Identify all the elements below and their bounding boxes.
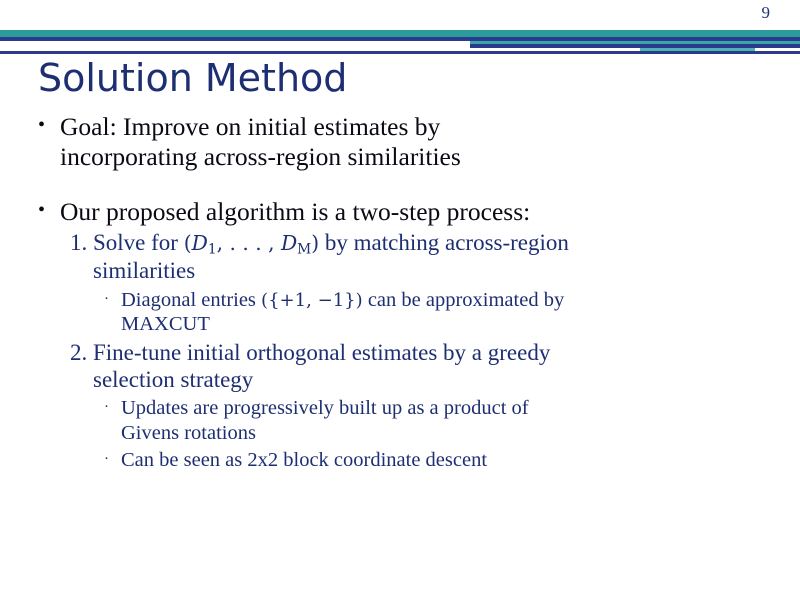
header-decoration [0,0,800,54]
numbered-item-2-line2: selection strategy [93,367,253,392]
sub-bullet-block-descent-text: Can be seen as 2x2 block coordinate desc… [121,448,778,473]
sub-bullet-updates: · Updates are progressively built up as … [104,396,778,445]
bullet-goal: • Goal: Improve on initial estimates by … [38,112,778,171]
numbered-item-1-text: Solve for (D1, . . . , DM) by matching a… [93,229,778,285]
numbered-item-1-text-pre: Solve for [93,230,178,255]
bullet-marker-goal: • [38,112,60,139]
math-dm: D [281,231,297,255]
numbered-item-1-text-post: by matching across-region [325,230,569,255]
bullet-algorithm-text: Our proposed algorithm is a two-step pro… [60,197,778,227]
math-pm-one-set: ({+1, −1}) [261,290,363,311]
math-dots: , . . . , [217,231,275,255]
slide: 9 Solution Method • Goal: Improve on ini… [0,0,800,600]
numbered-item-1-number: 1. [70,229,93,256]
bullet-algorithm: • Our proposed algorithm is a two-step p… [38,197,778,227]
sub-bullet-updates-line2: Givens rotations [121,422,256,444]
numbered-item-1: 1. Solve for (D1, . . . , DM) by matchin… [70,229,778,285]
deco-bar-navy-bottom [0,51,800,54]
math-d1-sub: 1 [208,241,217,257]
sub-bullet-updates-text: Updates are progressively built up as a … [121,396,778,445]
sub-bullet-block-descent: · Can be seen as 2x2 block coordinate de… [104,448,778,473]
bullet-marker-algorithm: • [38,197,60,224]
math-dm-sub: M [297,241,311,257]
sub-bullet-marker-updates: · [104,396,121,419]
page-title: Solution Method [38,56,347,100]
deco-bar-teal-top [0,30,800,37]
numbered-item-2-line1: Fine-tune initial orthogonal estimates b… [93,340,550,365]
deco-bar-white-split [0,41,470,48]
math-paren-close: ) [311,231,319,255]
sub-bullet-diagonal-post: can be approximated by [368,289,564,311]
numbered-item-1-line2: similarities [93,258,195,283]
bullet-goal-text: Goal: Improve on initial estimates by in… [60,112,778,171]
bullet-goal-line2: incorporating across-region similarities [60,142,461,171]
page-number: 9 [762,4,771,21]
sub-bullet-diagonal-line2: MAXCUT [121,313,210,335]
numbered-item-2-number: 2. [70,339,93,366]
numbered-item-2: 2. Fine-tune initial orthogonal estimate… [70,339,778,393]
spacer [38,171,778,197]
math-d1: D [192,231,208,255]
slide-body: • Goal: Improve on initial estimates by … [38,112,778,473]
sub-bullet-marker-block-descent: · [104,448,121,471]
sub-bullet-marker-diagonal: · [104,288,121,311]
sub-bullet-diagonal-text: Diagonal entries ({+1, −1}) can be appro… [121,288,778,337]
math-D-vector: (D1, . . . , DM) [184,231,319,255]
sub-bullet-diagonal: · Diagonal entries ({+1, −1}) can be app… [104,288,778,337]
bullet-goal-line1: Goal: Improve on initial estimates by [60,112,440,141]
numbered-item-2-text: Fine-tune initial orthogonal estimates b… [93,339,778,393]
math-paren-open: ( [184,231,192,255]
sub-bullet-diagonal-pre: Diagonal entries [121,289,256,311]
sub-bullet-updates-line1: Updates are progressively built up as a … [121,397,529,419]
